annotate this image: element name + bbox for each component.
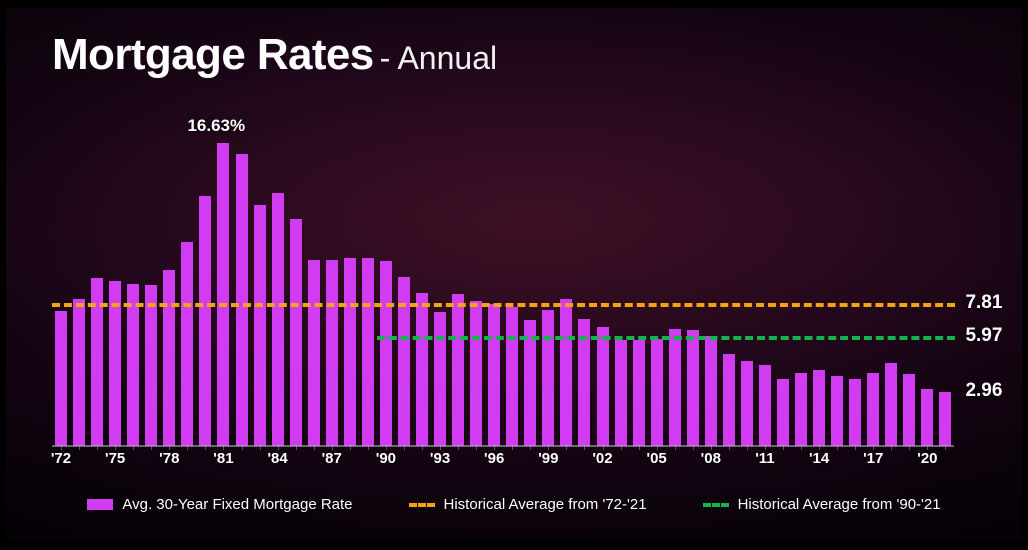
bar[interactable] (290, 219, 302, 446)
bar[interactable] (488, 304, 500, 446)
bar[interactable] (272, 193, 284, 446)
legend-item[interactable]: Historical Average from '90-'21 (703, 496, 941, 513)
legend-label: Historical Average from '72-'21 (444, 496, 647, 513)
x-axis-label: '08 (701, 450, 721, 467)
bar[interactable] (452, 294, 464, 446)
chart-legend: Avg. 30-Year Fixed Mortgage RateHistoric… (6, 496, 1022, 513)
x-axis-label: '17 (863, 450, 883, 467)
peak-data-label: 16.63% (187, 116, 245, 136)
x-axis-label: '99 (538, 450, 558, 467)
bar[interactable] (560, 299, 572, 446)
legend-label: Avg. 30-Year Fixed Mortgage Rate (122, 496, 352, 513)
bar[interactable] (380, 261, 392, 446)
bar[interactable] (163, 270, 175, 446)
x-axis-label: '78 (159, 450, 179, 467)
title-main: Mortgage Rates (52, 30, 374, 79)
bar[interactable] (434, 312, 446, 446)
bar[interactable] (759, 365, 771, 446)
bar[interactable] (542, 310, 554, 446)
title-subtitle: - Annual (380, 40, 497, 76)
bar[interactable] (416, 293, 428, 446)
bar[interactable] (73, 299, 85, 446)
bar[interactable] (181, 242, 193, 446)
chart-canvas: Mortgage Rates- Annual 7.81 5.97 2.96 16… (6, 8, 1022, 540)
reference-line-avg-90 (377, 336, 956, 340)
x-axis-label: '93 (430, 450, 450, 467)
bar[interactable] (903, 374, 915, 446)
bar[interactable] (308, 260, 320, 446)
x-axis-label: '05 (647, 450, 667, 467)
bar[interactable] (795, 373, 807, 446)
reference-label-avg-72: 7.81 (965, 292, 1002, 314)
x-axis-label: '20 (917, 450, 937, 467)
x-axis-label: '02 (592, 450, 612, 467)
bar[interactable] (344, 258, 356, 446)
bar[interactable] (127, 284, 139, 446)
legend-item[interactable]: Avg. 30-Year Fixed Mortgage Rate (87, 496, 352, 513)
bar[interactable] (777, 379, 789, 446)
bar[interactable] (669, 329, 681, 446)
bar[interactable] (633, 340, 645, 446)
bar[interactable] (831, 376, 843, 446)
legend-swatch-dashed (409, 503, 435, 507)
x-axis-label: '72 (51, 450, 71, 467)
bar[interactable] (849, 379, 861, 446)
legend-swatch-solid (87, 499, 113, 510)
x-axis-label: '96 (484, 450, 504, 467)
x-axis-labels: '72'75'78'81'84'87'90'93'96'99'02'05'08'… (6, 450, 1022, 474)
bar[interactable] (254, 205, 266, 446)
bar[interactable] (199, 196, 211, 446)
bar[interactable] (217, 143, 229, 446)
page-title: Mortgage Rates- Annual (52, 30, 497, 80)
chart-frame: Mortgage Rates- Annual 7.81 5.97 2.96 16… (0, 0, 1028, 550)
legend-swatch-dashed (703, 503, 729, 507)
x-axis-label: '90 (376, 450, 396, 467)
bar[interactable] (651, 339, 663, 446)
bar[interactable] (867, 373, 879, 446)
bar[interactable] (236, 154, 248, 446)
x-axis-label: '11 (755, 450, 774, 467)
x-axis-label: '14 (809, 450, 829, 467)
bar[interactable] (813, 370, 825, 446)
bar[interactable] (705, 336, 717, 446)
plot-area (52, 126, 952, 446)
x-axis-label: '75 (105, 450, 125, 467)
bar[interactable] (597, 327, 609, 446)
x-axis-label: '84 (267, 450, 287, 467)
reference-line-avg-72 (52, 303, 955, 307)
bar[interactable] (741, 361, 753, 446)
reference-label-avg-90: 5.97 (965, 325, 1002, 347)
bar[interactable] (470, 301, 482, 446)
bar[interactable] (326, 260, 338, 446)
last-value-label: 2.96 (965, 380, 1002, 402)
x-axis-label: '87 (322, 450, 342, 467)
bar[interactable] (885, 363, 897, 446)
bar[interactable] (362, 258, 374, 446)
bar[interactable] (615, 340, 627, 446)
bar[interactable] (506, 307, 518, 446)
legend-label: Historical Average from '90-'21 (738, 496, 941, 513)
x-axis-line (52, 445, 954, 447)
bar[interactable] (687, 330, 699, 446)
legend-item[interactable]: Historical Average from '72-'21 (409, 496, 647, 513)
x-axis-label: '81 (213, 450, 233, 467)
bar[interactable] (939, 392, 951, 446)
bar[interactable] (723, 354, 735, 446)
bar[interactable] (145, 285, 157, 446)
bar[interactable] (55, 311, 67, 446)
bar[interactable] (921, 389, 933, 446)
